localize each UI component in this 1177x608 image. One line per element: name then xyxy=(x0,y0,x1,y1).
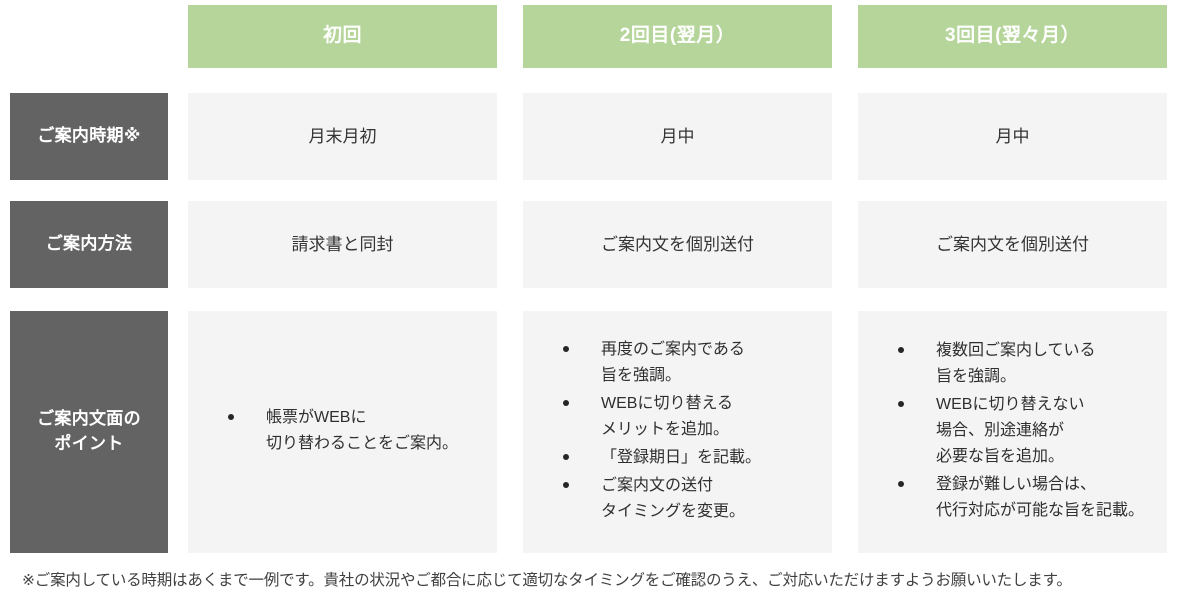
table-cell-method-3-text: ご案内文を個別送付 xyxy=(936,232,1089,258)
bullet-item: ご案内文の送付 タイミングを変更。 xyxy=(563,473,822,525)
bullet-item-text: ご案内文の送付 タイミングを変更。 xyxy=(601,477,745,520)
table-cell-timing-1: 月末月初 xyxy=(188,93,497,180)
table-cell-timing-1-text: 月末月初 xyxy=(309,124,377,150)
table-cell-method-1-text: 請求書と同封 xyxy=(292,232,394,258)
bullet-item-text: WEBに切り替えない 場合、別途連絡が 必要な旨を追加。 xyxy=(936,396,1084,465)
schedule-table-figure: 初回 2回目(翌月） 3回目(翌々月） ご案内時期※ 月末月初 月中 月中 ご案… xyxy=(0,0,1177,608)
table-cell-method-2-text: ご案内文を個別送付 xyxy=(601,232,754,258)
bullet-item-text: 「登録期日」を記載。 xyxy=(601,449,761,466)
column-header-1: 初回 xyxy=(188,5,497,68)
bullet-item: 登録が難しい場合は、 代行対応が可能な旨を記載。 xyxy=(898,472,1157,524)
table-cell-timing-3: 月中 xyxy=(858,93,1167,180)
bullet-dot-icon xyxy=(898,481,904,487)
bullet-item: 「登録期日」を記載。 xyxy=(563,445,822,471)
row-label-points: ご案内文面の ポイント xyxy=(10,311,168,553)
row-label-timing-text: ご案内時期※ xyxy=(37,124,140,149)
table-cell-timing-3-text: 月中 xyxy=(996,124,1030,150)
bullet-list-3: 複数回ご案内している 旨を強調。WEBに切り替えない 場合、別途連絡が 必要な旨… xyxy=(858,338,1167,525)
row-label-method-text: ご案内方法 xyxy=(46,232,133,257)
table-cell-points-3: 複数回ご案内している 旨を強調。WEBに切り替えない 場合、別途連絡が 必要な旨… xyxy=(858,311,1167,553)
table-cell-method-2: ご案内文を個別送付 xyxy=(523,201,832,288)
bullet-item-text: WEBに切り替える メリットを追加。 xyxy=(601,395,733,438)
column-header-2: 2回目(翌月） xyxy=(523,5,832,68)
bullet-dot-icon xyxy=(898,347,904,353)
column-header-3: 3回目(翌々月） xyxy=(858,5,1167,68)
bullet-item-text: 登録が難しい場合は、 代行対応が可能な旨を記載。 xyxy=(936,476,1144,519)
bullet-dot-icon xyxy=(898,401,904,407)
column-header-2-label: 2回目(翌月） xyxy=(620,25,735,48)
footnote: ※ご案内している時期はあくまで一例です。貴社の状況やご都合に応じて適切なタイミン… xyxy=(22,570,1162,592)
column-header-1-label: 初回 xyxy=(323,25,362,48)
column-header-3-label: 3回目(翌々月） xyxy=(945,25,1080,48)
bullet-item: 帳票がWEBに 切り替わることをご案内。 xyxy=(228,405,487,457)
bullet-dot-icon xyxy=(228,414,234,420)
table-cell-timing-2-text: 月中 xyxy=(661,124,695,150)
table-cell-timing-2: 月中 xyxy=(523,93,832,180)
bullet-item: 複数回ご案内している 旨を強調。 xyxy=(898,338,1157,390)
table-cell-points-1: 帳票がWEBに 切り替わることをご案内。 xyxy=(188,311,497,553)
bullet-list-2: 再度のご案内である 旨を強調。WEBに切り替える メリットを追加。「登録期日」を… xyxy=(523,337,832,526)
row-label-timing: ご案内時期※ xyxy=(10,93,168,180)
table-cell-method-3: ご案内文を個別送付 xyxy=(858,201,1167,288)
row-label-method: ご案内方法 xyxy=(10,201,168,288)
bullet-item-text: 帳票がWEBに 切り替わることをご案内。 xyxy=(266,409,458,452)
bullet-item: WEBに切り替える メリットを追加。 xyxy=(563,391,822,443)
bullet-item-text: 再度のご案内である 旨を強調。 xyxy=(601,341,745,384)
bullet-dot-icon xyxy=(563,454,569,460)
bullet-dot-icon xyxy=(563,346,569,352)
bullet-item: 再度のご案内である 旨を強調。 xyxy=(563,337,822,389)
table-cell-points-2: 再度のご案内である 旨を強調。WEBに切り替える メリットを追加。「登録期日」を… xyxy=(523,311,832,553)
table-cell-method-1: 請求書と同封 xyxy=(188,201,497,288)
row-label-points-text: ご案内文面の ポイント xyxy=(37,407,141,456)
bullet-item-text: 複数回ご案内している 旨を強調。 xyxy=(936,342,1096,385)
bullet-dot-icon xyxy=(563,482,569,488)
bullet-item: WEBに切り替えない 場合、別途連絡が 必要な旨を追加。 xyxy=(898,392,1157,470)
bullet-list-1: 帳票がWEBに 切り替わることをご案内。 xyxy=(188,405,497,459)
bullet-dot-icon xyxy=(563,400,569,406)
